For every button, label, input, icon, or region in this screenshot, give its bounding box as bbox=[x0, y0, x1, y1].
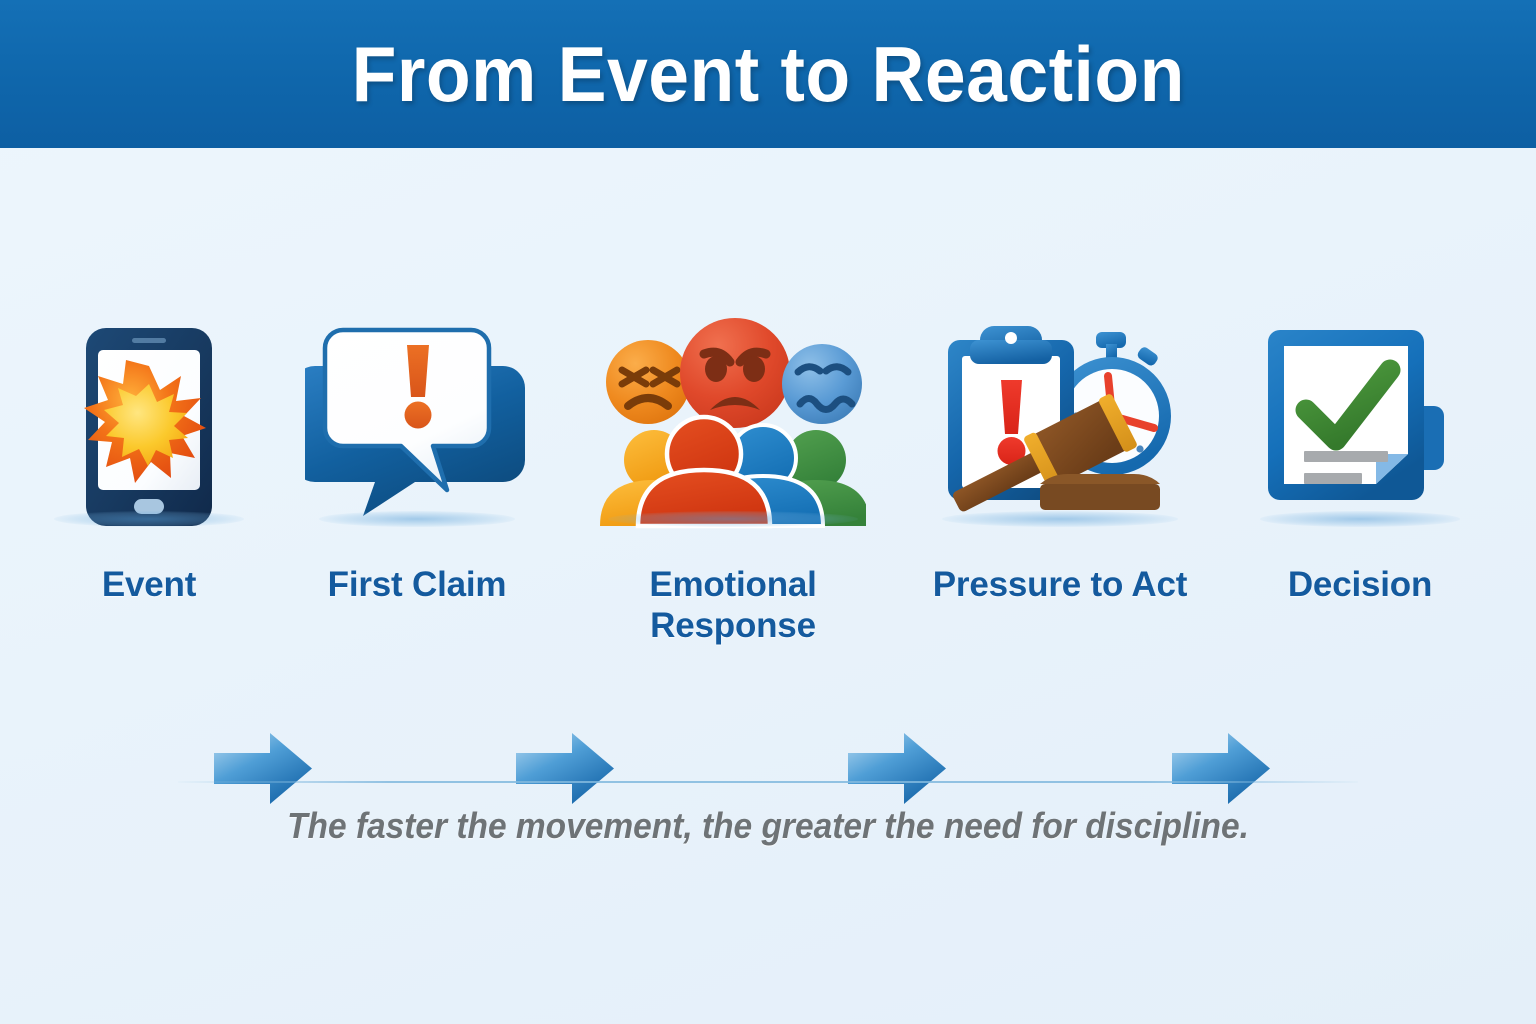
flow-step-label: Decision bbox=[1160, 564, 1536, 605]
flow-step-first-claim[interactable]: First Claim bbox=[305, 318, 529, 558]
footer-caption: The faster the movement, the greater the… bbox=[54, 805, 1482, 847]
infographic-canvas: From Event to Reaction bbox=[0, 0, 1536, 1024]
arrow-right-icon bbox=[1172, 731, 1272, 811]
arrow-right-icon bbox=[848, 731, 948, 811]
clipboard-stopwatch-gavel-icon bbox=[930, 318, 1190, 533]
emoji-faces-crowd-icon bbox=[600, 318, 866, 533]
flow-step-emotional-response[interactable]: Emotional Response bbox=[600, 318, 866, 558]
arrow-right-icon bbox=[214, 731, 314, 811]
flow-step-event[interactable]: Event bbox=[38, 318, 260, 558]
flow-step-pressure-to-act[interactable]: Pressure to Act bbox=[930, 318, 1190, 558]
flow-step-label: First Claim bbox=[217, 564, 617, 605]
speech-bubble-exclamation-icon bbox=[305, 318, 529, 533]
process-flow: Event bbox=[0, 318, 1536, 558]
arrow-right-icon bbox=[516, 731, 616, 811]
header-bar: From Event to Reaction bbox=[0, 0, 1536, 148]
page-title: From Event to Reaction bbox=[351, 29, 1184, 120]
flow-step-decision[interactable]: Decision bbox=[1250, 318, 1470, 558]
document-checkmark-icon bbox=[1250, 318, 1470, 533]
flow-step-label: Emotional Response bbox=[603, 564, 863, 646]
divider bbox=[178, 781, 1358, 783]
smartphone-explosion-icon bbox=[38, 318, 260, 533]
